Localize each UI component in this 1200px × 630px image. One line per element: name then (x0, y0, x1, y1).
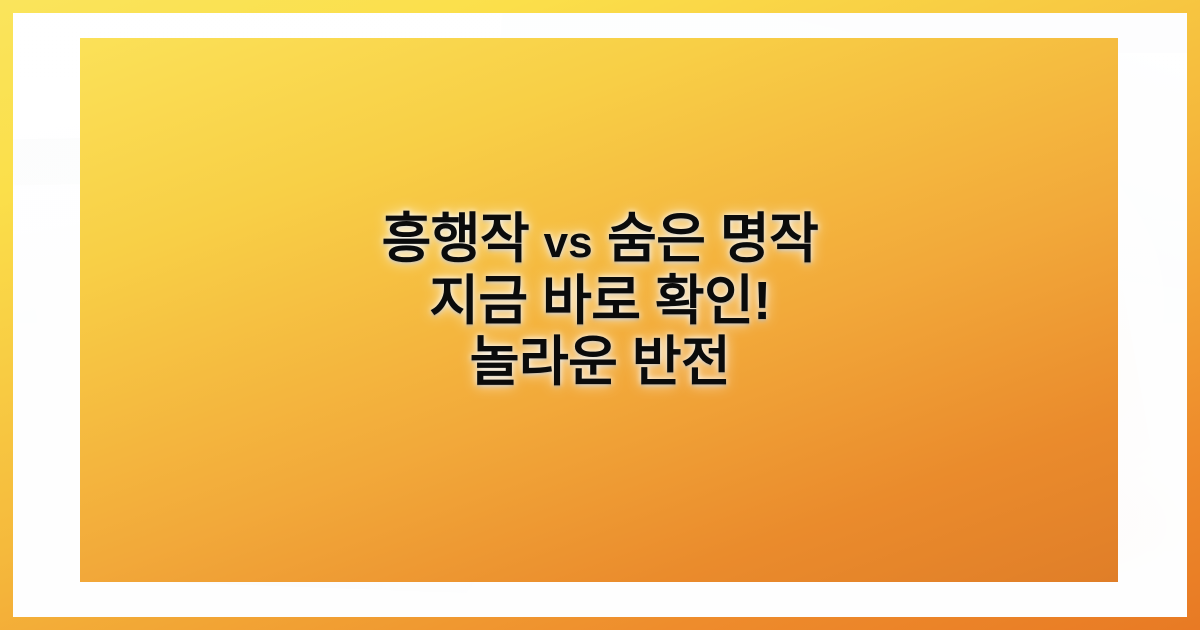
thumbnail-card: 흥행작 vs 숨은 명작 지금 바로 확인! 놀라운 반전 (0, 0, 1200, 630)
headline-line-1-before: 흥행작 (382, 209, 544, 269)
headline: 흥행작 vs 숨은 명작 지금 바로 확인! 놀라운 반전 (13, 209, 1187, 394)
card-canvas: 흥행작 vs 숨은 명작 지금 바로 확인! 놀라운 반전 (13, 13, 1187, 617)
headline-vs-label: vs (544, 218, 593, 267)
headline-line-3: 놀라운 반전 (13, 332, 1187, 394)
headline-line-1-after: 숨은 명작 (593, 209, 819, 269)
headline-line-2: 지금 바로 확인! (13, 271, 1187, 333)
headline-line-1: 흥행작 vs 숨은 명작 (13, 209, 1187, 271)
